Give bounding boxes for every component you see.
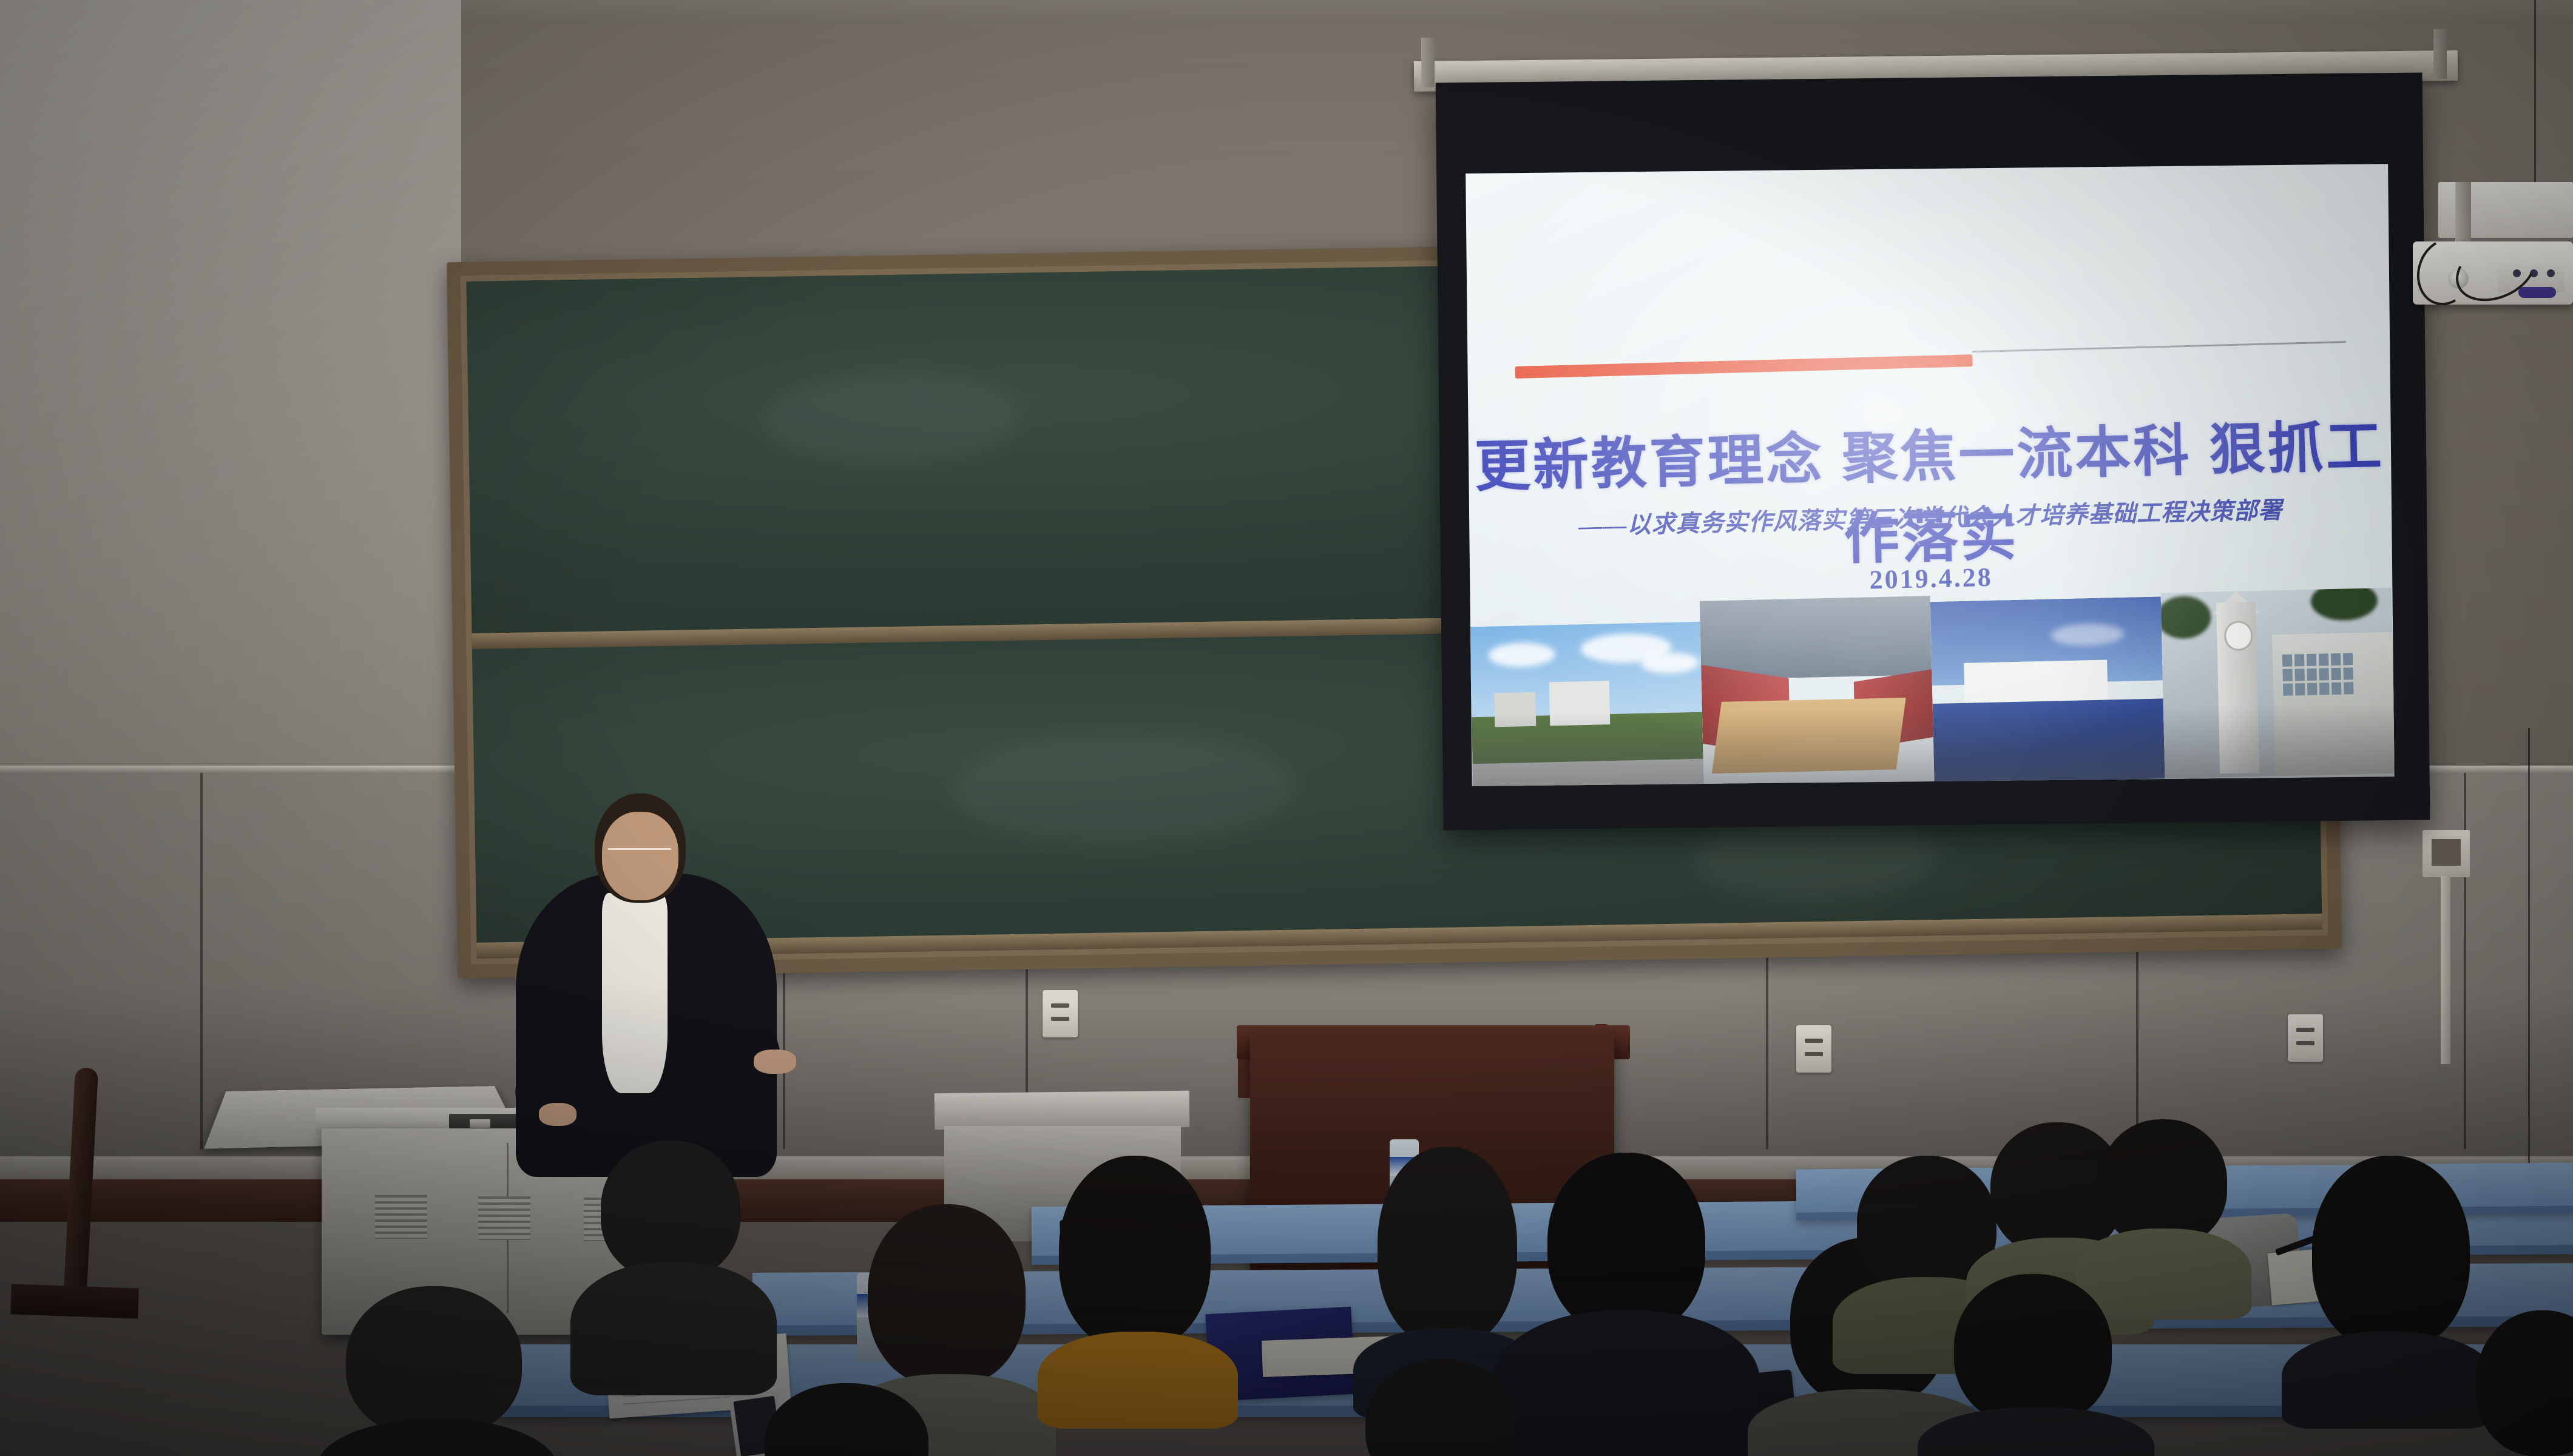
slide-photo-lakeside-building (1930, 596, 2165, 784)
slide-photo-campus-plaza (1470, 622, 1704, 786)
speaker-face (602, 812, 678, 900)
slide-accent (1515, 340, 2346, 380)
wainscot-seam (200, 773, 203, 1149)
audience-member (746, 1383, 953, 1456)
screen-bracket (1421, 38, 1435, 87)
audience-member (564, 1141, 783, 1383)
left-wall-panel (0, 0, 461, 770)
slide-photo-clock-tower (2161, 588, 2395, 779)
audience-member (1032, 1156, 1232, 1417)
speaker-right-hand (754, 1050, 796, 1074)
wooden-chair[interactable] (11, 1068, 126, 1432)
accent-bar (1515, 354, 1972, 379)
wall-outlet[interactable] (1043, 990, 1078, 1037)
slide-photo-gymnasium (1700, 596, 1935, 786)
projector-cable-plug (2518, 287, 2556, 298)
accent-hairline (1972, 341, 2346, 352)
slide-photo-strip (1469, 585, 2395, 786)
speaker-shirt (602, 893, 668, 1093)
audience-member (2476, 1310, 2573, 1456)
wall-conduit (2441, 876, 2450, 1064)
wainscot-seam (2464, 773, 2466, 1149)
junction-box (2423, 830, 2470, 877)
wall-cable (2534, 0, 2536, 182)
wall-cable (2528, 728, 2530, 1189)
side-desk (935, 1091, 1190, 1130)
audience-member (1341, 1359, 1547, 1456)
wall-outlet[interactable] (1796, 1025, 1831, 1073)
audience-member (2282, 1156, 2488, 1417)
speaker-presenter (510, 783, 825, 1171)
audience-member (316, 1286, 552, 1456)
lecture-hall-photo: 更新教育理念 聚焦一流本科 狠抓工作落实 ——以求真务实作风落实第三次党代会人才… (0, 0, 2573, 1456)
wall-outlet[interactable] (2288, 1014, 2323, 1062)
projection-screen-frame: 更新教育理念 聚焦一流本科 狠抓工作落实 ——以求真务实作风落实第三次党代会人才… (1436, 73, 2430, 831)
audience-member (1918, 1274, 2148, 1456)
glasses-icon (608, 848, 671, 850)
speaker-left-hand (539, 1103, 576, 1126)
screen-bracket (2433, 29, 2447, 79)
projection-screen-surface: 更新教育理念 聚焦一流本科 狠抓工作落实 ——以求真务实作风落实第三次党代会人才… (1466, 164, 2394, 786)
